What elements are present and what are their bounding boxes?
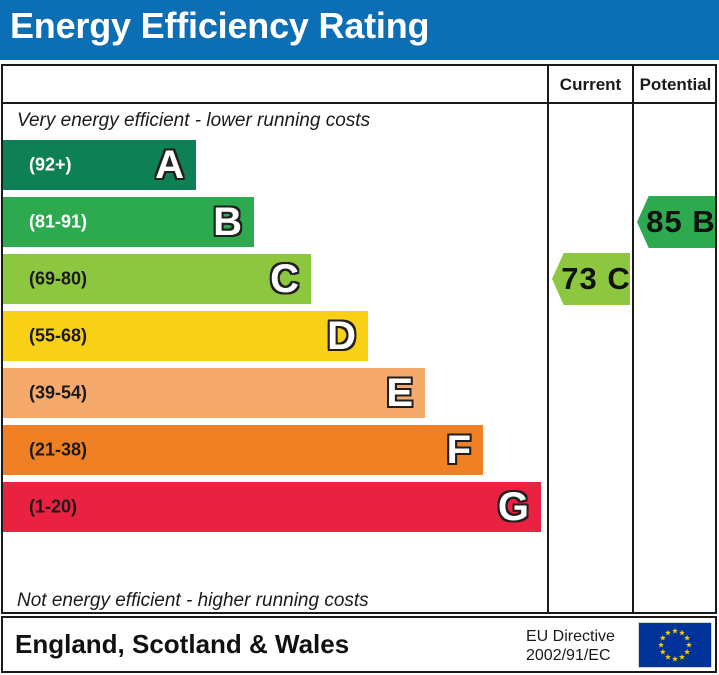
rating-marker-current: 73 C [552,253,630,305]
band-letter-a: A [155,145,184,185]
footer-directive-line2: 2002/91/EC [526,646,615,665]
band-range-f: (21-38) [29,440,87,461]
column-divider-potential [632,66,634,612]
band-b: (81-91)B [3,197,254,247]
caption-inefficient: Not energy efficient - higher running co… [17,590,369,612]
band-g: (1-20)G [3,482,541,532]
rating-value-potential: 85 B [636,204,715,240]
footer-directive-line1: EU Directive [526,627,615,646]
band-letter-c: C [270,259,299,299]
band-letter-f: F [447,430,471,470]
rating-value-current: 73 C [551,261,630,297]
column-header-potential: Potential [634,75,717,95]
page-title: Energy Efficiency Rating [10,5,429,47]
caption-efficient: Very energy efficient - lower running co… [17,110,370,132]
band-range-b: (81-91) [29,212,87,233]
eu-flag-icon [638,622,712,668]
eu-stars-icon [639,623,711,667]
band-a: (92+)A [3,140,196,190]
chart-body: Current Potential Very energy efficient … [1,64,717,614]
footer-region-label: England, Scotland & Wales [15,629,349,660]
band-letter-e: E [386,373,413,413]
column-divider-current [547,66,549,612]
band-d: (55-68)D [3,311,368,361]
band-letter-d: D [327,316,356,356]
band-c: (69-80)C [3,254,311,304]
rating-marker-potential: 85 B [637,196,715,248]
column-header-current: Current [549,75,632,95]
band-range-e: (39-54) [29,383,87,404]
chart-footer: England, Scotland & Wales EU Directive 2… [1,616,717,673]
band-range-c: (69-80) [29,269,87,290]
chart-title-bar: Energy Efficiency Rating [0,0,719,60]
band-range-a: (92+) [29,155,72,176]
band-e: (39-54)E [3,368,425,418]
band-letter-b: B [213,202,242,242]
band-f: (21-38)F [3,425,483,475]
band-letter-g: G [498,487,529,527]
band-range-d: (55-68) [29,326,87,347]
band-range-g: (1-20) [29,497,77,518]
energy-efficiency-rating-chart: Energy Efficiency Rating Current Potenti… [0,0,719,675]
footer-directive: EU Directive 2002/91/EC [526,627,615,665]
